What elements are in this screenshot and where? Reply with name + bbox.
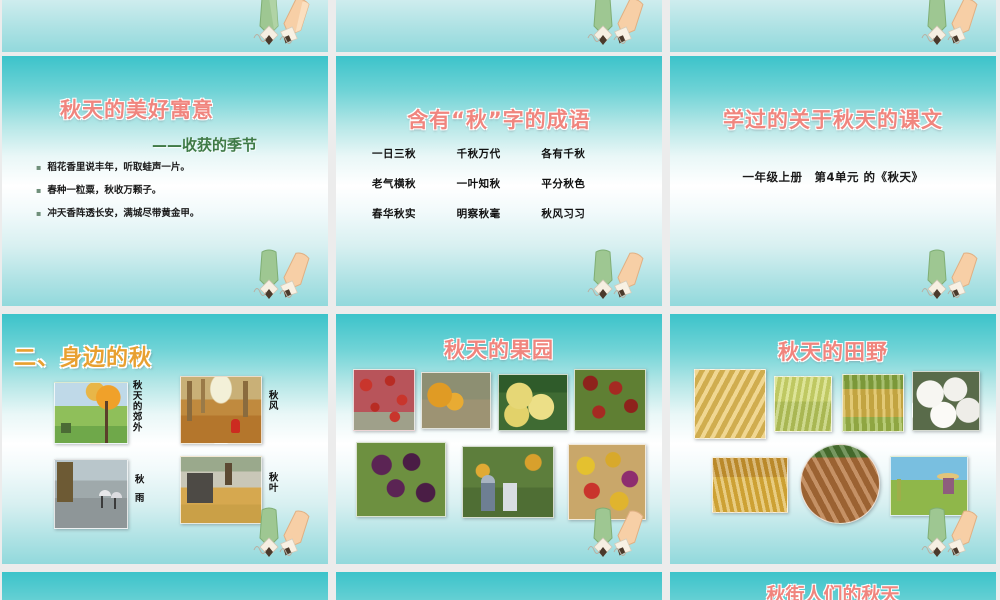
idiom-cell: 秋风习习 [541, 206, 626, 221]
bullet-text: 春种一粒粟，秋收万颗子。 [47, 185, 161, 196]
scribble-line [614, 291, 626, 298]
slide-thumbnail-fields[interactable]: 秋天的田野 [670, 314, 996, 564]
pencil-decoration [248, 0, 314, 46]
scribble-line [588, 547, 600, 554]
idiom-cell: 各有千秋 [541, 146, 626, 161]
photo-carrot-harvest [800, 444, 880, 524]
peach-pencil-icon [611, 0, 645, 46]
slide-title: 学过的关于秋天的课文 [670, 104, 996, 134]
slide-subtitle: ——收获的季节 [152, 134, 257, 155]
list-item: ▪ 春种一粒粟，秋收万颗子。 [36, 185, 306, 197]
slide-thumbnail-row3-col0[interactable] [2, 572, 328, 600]
pencil-decoration [582, 0, 648, 46]
peach-pencil-icon [277, 251, 311, 300]
peach-pencil-icon [611, 251, 645, 300]
bullet-list: ▪ 稻花香里说丰年，听取蛙声一片。 ▪ 春种一粒粟，秋收万颗子。 ▪ 冲天香阵透… [36, 162, 306, 231]
scribble-line [254, 547, 266, 554]
scribble-line [922, 35, 934, 42]
peach-pencil-icon [945, 0, 979, 46]
scribble-line [922, 289, 934, 296]
scribble-line [614, 37, 626, 44]
slide-title: 秋天的田野 [670, 336, 996, 366]
peach-pencil-icon [945, 509, 979, 558]
photo-jujube-dates [574, 369, 646, 431]
scribble-line [254, 289, 266, 296]
scribble-line [948, 549, 960, 556]
photo-rice-paddy [712, 457, 788, 513]
bullet-text: 冲天香阵透长安，满城尽带黄金甲。 [47, 208, 199, 219]
scribble-line [922, 547, 934, 554]
slide-title: 秋街人们的秋天 [670, 580, 996, 600]
photo-autumn-suburbs [54, 382, 128, 444]
slide-thumbnail-orchard[interactable]: 秋天的果园 [336, 314, 662, 564]
slide-thumbnail-meaning[interactable]: 秋天的美好寓意 ——收获的季节 ▪ 稻花香里说丰年，听取蛙声一片。 ▪ 春种一粒… [2, 56, 328, 306]
photo-pears-on-branch [498, 374, 568, 431]
idiom-cell: 老气横秋 [372, 176, 457, 191]
photo-persimmon-tree [421, 372, 491, 429]
slide-thumbnail-row0-col1[interactable] [336, 0, 662, 52]
idiom-cell: 平分秋色 [541, 176, 626, 191]
scribble-line [948, 37, 960, 44]
slide-thumbnail-lessons[interactable]: 学过的关于秋天的课文 一年级上册 第4单元 的《秋天》 [670, 56, 996, 306]
photo-autumn-leaves [180, 456, 262, 524]
photo-autumn-rain [54, 459, 128, 529]
bullet-dot: ▪ [36, 208, 41, 220]
bullet-dot: ▪ [36, 185, 41, 197]
scribble-line [280, 291, 292, 298]
peach-pencil-icon [945, 251, 979, 300]
bullet-dot: ▪ [36, 162, 41, 174]
slide-thumbnail-grid: 秋天的美好寓意 ——收获的季节 ▪ 稻花香里说丰年，听取蛙声一片。 ▪ 春种一粒… [0, 0, 1000, 600]
slide-title: 秋天的果园 [336, 334, 662, 364]
green-pencil-icon [260, 250, 278, 299]
photo-label-wind: 秋风 [266, 390, 277, 411]
list-item: ▪ 稻花香里说丰年，听取蛙声一片。 [36, 162, 306, 174]
scribble-line [254, 35, 266, 42]
slide-title: 含有“秋”字的成语 [336, 104, 662, 134]
scribble-line [948, 291, 960, 298]
pencil-decoration [248, 248, 314, 300]
bullet-text: 稻花香里说丰年，听取蛙声一片。 [47, 162, 190, 173]
slide-thumbnail-row0-col0[interactable] [2, 0, 328, 52]
idiom-cell: 明察秋毫 [457, 206, 542, 221]
photo-farmer-in-cornfield [890, 456, 968, 516]
photo-label-rain: 秋雨 [132, 474, 143, 511]
pencil-decoration [916, 0, 982, 46]
scribble-line [588, 289, 600, 296]
peach-pencil-icon [277, 0, 311, 46]
slide-thumbnail-row3-col1[interactable] [336, 572, 662, 600]
green-pencil-icon [594, 250, 612, 299]
scribble-line [614, 549, 626, 556]
slide-title: 秋天的美好寓意 [2, 94, 300, 124]
scribble-line [588, 35, 600, 42]
photo-orange-picking [462, 446, 554, 518]
scribble-line [280, 37, 292, 44]
photo-autumn-wind [180, 376, 262, 444]
green-pencil-icon [260, 508, 278, 557]
photo-soybean-field [774, 376, 832, 432]
photo-label-leaves: 秋叶 [266, 472, 277, 493]
idiom-cell: 一叶知秋 [457, 176, 542, 191]
photo-label-suburbs: 秋天的郊外 [130, 380, 141, 433]
idiom-grid: 一日三秋 千秋万代 各有千秋 老气横秋 一叶知秋 平分秋色 春华秋实 明察秋毫 … [372, 146, 626, 221]
slide-thumbnail-idioms[interactable]: 含有“秋”字的成语 一日三秋 千秋万代 各有千秋 老气横秋 一叶知秋 平分秋色 … [336, 56, 662, 306]
photo-apple-orchard [353, 369, 415, 431]
idiom-cell: 千秋万代 [457, 146, 542, 161]
slide-thumbnail-around[interactable]: 二、身边的秋 秋天的郊外 秋风 秋雨 秋叶 [2, 314, 328, 564]
idiom-cell: 春华秋实 [372, 206, 457, 221]
photo-corn-cobs [694, 369, 766, 439]
lesson-reference: 一年级上册 第4单元 的《秋天》 [670, 169, 996, 185]
scribble-line [280, 549, 292, 556]
slide-thumbnail-row0-col2[interactable] [670, 0, 996, 52]
photo-soybean-pods [842, 374, 904, 432]
green-pencil-icon [594, 0, 612, 45]
pencil-decoration [582, 248, 648, 300]
slide-thumbnail-next-partial[interactable]: 秋街人们的秋天 [670, 572, 996, 600]
peach-pencil-icon [277, 509, 311, 558]
photo-fruit-baskets [568, 444, 646, 520]
photo-grape-vines [356, 442, 446, 517]
slide-title: 二、身边的秋 [14, 340, 152, 372]
list-item: ▪ 冲天香阵透长安，满城尽带黄金甲。 [36, 208, 306, 220]
photo-cotton-bolls [912, 371, 980, 431]
pencil-decoration [916, 248, 982, 300]
green-pencil-icon [928, 250, 946, 299]
idiom-cell: 一日三秋 [372, 146, 457, 161]
green-pencil-icon [928, 0, 946, 45]
green-pencil-icon [260, 0, 278, 45]
